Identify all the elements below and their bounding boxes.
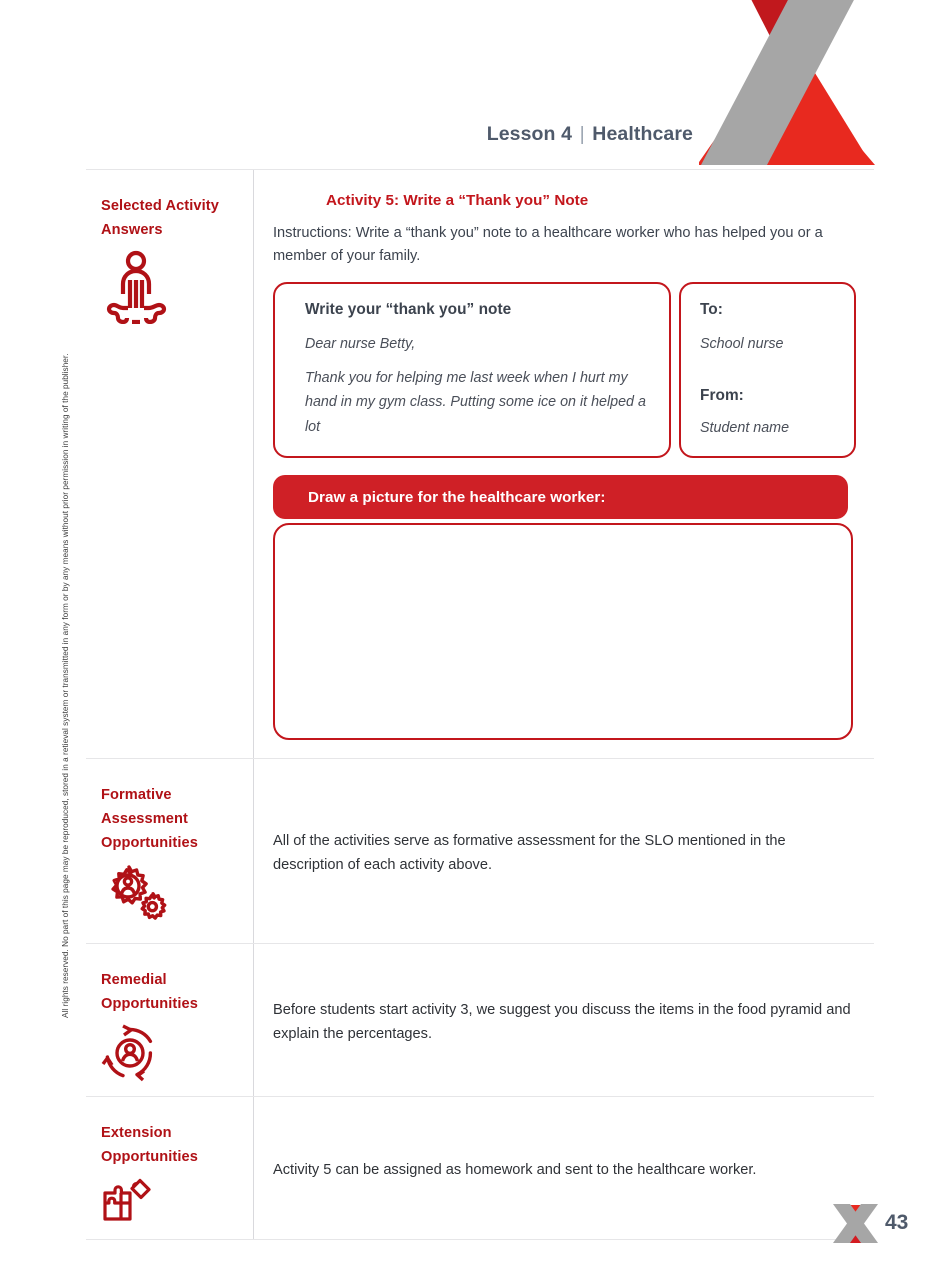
section-title-line: Selected Activity xyxy=(101,194,241,218)
address-box[interactable]: To: School nurse From: Student name xyxy=(679,282,856,458)
note-boxes-row: Write your “thank you” note Dear nurse B… xyxy=(273,282,856,458)
to-value: School nurse xyxy=(700,332,838,357)
section-title-line: Formative xyxy=(101,783,241,807)
section-label-selected-activity-answers: Selected Activity Answers xyxy=(86,170,254,758)
header-lesson-label: Lesson 4 xyxy=(487,123,572,145)
extension-opportunities-content-cell: Activity 5 can be assigned as homework a… xyxy=(254,1097,874,1239)
table-row-selected-activity-answers: Selected Activity Answers Activity 5: Wr… xyxy=(86,170,874,759)
person-on-puzzle-icon xyxy=(101,250,241,324)
from-value: Student name xyxy=(700,416,838,441)
section-title-line: Extension xyxy=(101,1121,241,1145)
thank-you-note-salutation: Dear nurse Betty, xyxy=(305,332,647,357)
activity-title: Activity 5: Write a “Thank you” Note xyxy=(326,192,856,209)
person-circular-arrows-icon xyxy=(101,1024,241,1082)
formative-assessment-body: All of the activities serve as formative… xyxy=(273,829,856,877)
section-title-line: Remedial xyxy=(101,968,241,992)
section-title-line: Opportunities xyxy=(101,1145,241,1169)
header-brand-logo xyxy=(699,0,875,165)
formative-assessment-content-cell: All of the activities serve as formative… xyxy=(254,759,874,943)
copyright-notice: All rights reserved. No part of this pag… xyxy=(59,278,73,1018)
section-label-extension-opportunities: Extension Opportunities xyxy=(86,1097,254,1239)
page-header-title: Lesson 4 | Healthcare xyxy=(300,123,693,146)
section-label-remedial-opportunities: Remedial Opportunities xyxy=(86,944,254,1096)
to-label: To: xyxy=(700,301,838,319)
section-title-line: Assessment xyxy=(101,807,241,831)
table-row-extension-opportunities: Extension Opportunities Activity 5 can b… xyxy=(86,1097,874,1240)
draw-picture-banner-label: Draw a picture for the healthcare worker… xyxy=(308,489,605,506)
page-footer: 43 xyxy=(831,1201,908,1245)
footer-brand-logo xyxy=(831,1201,879,1245)
page-number: 43 xyxy=(885,1211,908,1235)
remedial-opportunities-content-cell: Before students start activity 3, we sug… xyxy=(254,944,874,1096)
from-label: From: xyxy=(700,387,838,405)
thank-you-note-box[interactable]: Write your “thank you” note Dear nurse B… xyxy=(273,282,671,458)
table-row-formative-assessment: Formative Assessment Opportunities xyxy=(86,759,874,944)
thank-you-note-heading: Write your “thank you” note xyxy=(305,301,647,319)
section-title-line: Opportunities xyxy=(101,831,241,855)
activity-content-cell: Activity 5: Write a “Thank you” Note Ins… xyxy=(254,170,874,758)
table-row-remedial-opportunities: Remedial Opportunities Before students xyxy=(86,944,874,1097)
header-topic-label: Healthcare xyxy=(592,123,693,145)
extension-opportunities-body: Activity 5 can be assigned as homework a… xyxy=(273,1158,756,1182)
section-title-line: Opportunities xyxy=(101,992,241,1016)
copyright-notice-text: All rights reserved. No part of this pag… xyxy=(59,278,73,1018)
section-label-formative-assessment: Formative Assessment Opportunities xyxy=(86,759,254,943)
lesson-content-table: Selected Activity Answers Activity 5: Wr… xyxy=(86,169,874,1240)
gears-with-person-icon xyxy=(101,863,241,929)
header-separator: | xyxy=(578,123,587,145)
remedial-opportunities-body: Before students start activity 3, we sug… xyxy=(273,998,856,1046)
section-title-line: Answers xyxy=(101,218,241,242)
activity-instructions: Instructions: Write a “thank you” note t… xyxy=(273,222,833,268)
drawing-canvas-area[interactable] xyxy=(273,523,853,740)
draw-picture-banner: Draw a picture for the healthcare worker… xyxy=(273,475,848,519)
thank-you-note-body: Thank you for helping me last week when … xyxy=(305,366,647,440)
puzzle-extension-icon xyxy=(101,1177,241,1225)
